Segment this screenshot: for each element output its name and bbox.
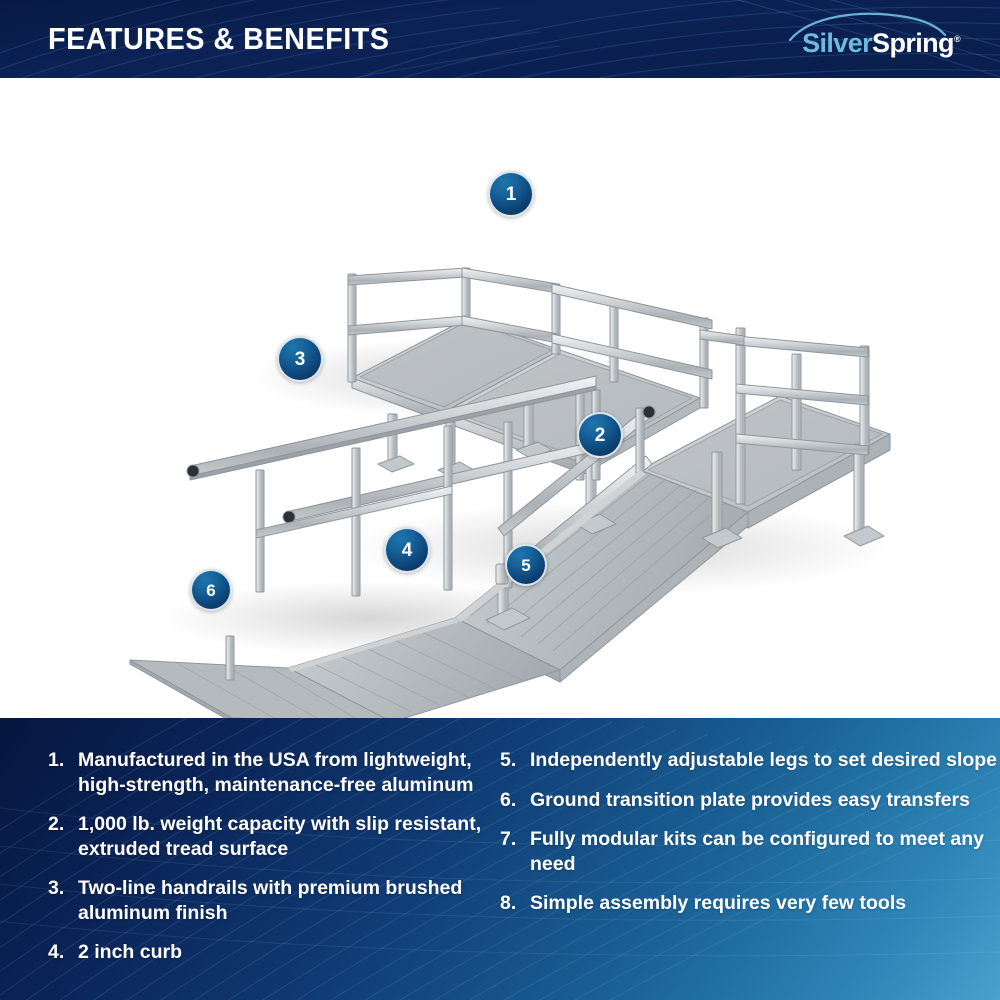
callout-badge-2[interactable]: 2	[577, 412, 623, 458]
callout-badge-4[interactable]: 4	[384, 527, 430, 573]
feature-item-3: 3. Two-line handrails with premium brush…	[48, 876, 490, 925]
feature-item-5-text: Independently adjustable legs to set des…	[530, 748, 1000, 773]
features-columns: 1. Manufactured in the USA from lightwei…	[0, 718, 1000, 1000]
callout-badge-6-number: 6	[206, 582, 215, 599]
feature-item-2: 2. 1,000 lb. weight capacity with slip r…	[48, 812, 490, 861]
feature-item-8-text: Simple assembly requires very few tools	[530, 891, 1000, 916]
features-benefits-page: FEATURES & BENEFITS SilverSpring®	[0, 0, 1000, 1000]
callout-badge-3-number: 3	[295, 350, 306, 369]
feature-item-3-text: Two-line handrails with premium brushed …	[78, 876, 490, 925]
page-title: FEATURES & BENEFITS	[48, 21, 415, 57]
feature-item-1: 1. Manufactured in the USA from lightwei…	[48, 748, 490, 797]
feature-item-4: 4. 2 inch curb	[48, 940, 490, 965]
brand-name-second: Spring	[872, 28, 954, 58]
feature-item-1-text: Manufactured in the USA from lightweight…	[78, 748, 490, 797]
registered-trademark-icon: ®	[954, 34, 960, 44]
callout-badge-3[interactable]: 3	[277, 336, 323, 382]
features-panel: 1. Manufactured in the USA from lightwei…	[0, 718, 1000, 1000]
callout-badge-6[interactable]: 6	[190, 569, 232, 611]
features-left-column: 1. Manufactured in the USA from lightwei…	[0, 718, 490, 1000]
callout-badge-2-number: 2	[595, 426, 606, 445]
feature-item-2-number: 2.	[48, 812, 72, 837]
feature-item-2-text: 1,000 lb. weight capacity with slip resi…	[78, 812, 490, 861]
product-illustration: 1 2 3 4 5 6	[0, 78, 1000, 718]
feature-item-6: 6. Ground transition plate provides easy…	[500, 788, 1000, 813]
callout-badge-5-number: 5	[521, 557, 530, 574]
callout-badge-1-number: 1	[506, 185, 517, 204]
feature-item-8: 8. Simple assembly requires very few too…	[500, 891, 1000, 916]
feature-item-1-number: 1.	[48, 748, 72, 773]
page-header: FEATURES & BENEFITS SilverSpring®	[0, 0, 1000, 78]
brand-logo-text: SilverSpring®	[760, 28, 960, 59]
feature-item-4-text: 2 inch curb	[78, 940, 490, 965]
feature-item-7-text: Fully modular kits can be configured to …	[530, 827, 1000, 876]
feature-item-7-number: 7.	[500, 827, 524, 852]
brand-name-first: Silver	[802, 28, 872, 58]
feature-item-6-text: Ground transition plate provides easy tr…	[530, 788, 1000, 813]
feature-item-4-number: 4.	[48, 940, 72, 965]
feature-item-5: 5. Independently adjustable legs to set …	[500, 748, 1000, 773]
feature-item-7: 7. Fully modular kits can be configured …	[500, 827, 1000, 876]
page-title-text: FEATURES & BENEFITS	[48, 21, 389, 57]
features-right-column: 5. Independently adjustable legs to set …	[490, 718, 1000, 1000]
feature-item-6-number: 6.	[500, 788, 524, 813]
brand-logo: SilverSpring®	[760, 13, 960, 65]
feature-item-5-number: 5.	[500, 748, 524, 773]
feature-item-3-number: 3.	[48, 876, 72, 901]
callout-badge-1[interactable]: 1	[488, 171, 534, 217]
feature-item-8-number: 8.	[500, 891, 524, 916]
callout-badge-5[interactable]: 5	[505, 544, 547, 586]
callout-badge-4-number: 4	[402, 541, 413, 560]
